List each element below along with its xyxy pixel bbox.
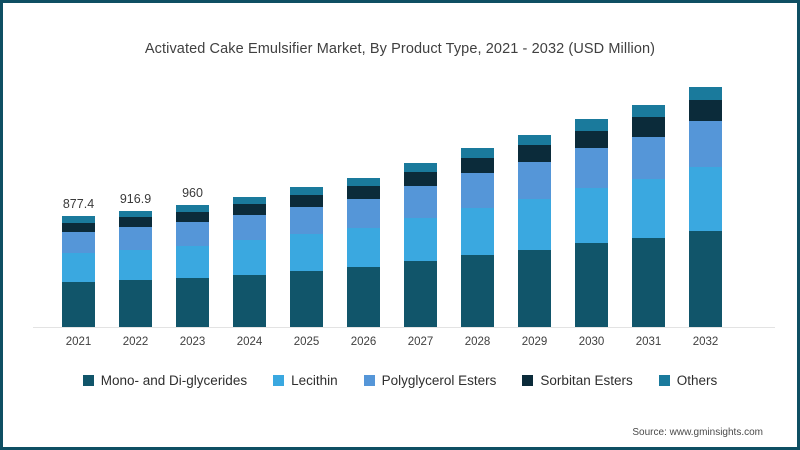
bar-stack	[632, 105, 665, 327]
legend-item-5[interactable]: Others	[659, 373, 718, 388]
chart-legend: Mono- and Di-glyceridesLecithinPolyglyce…	[9, 373, 791, 388]
bar-value-label: 960	[182, 186, 203, 200]
source-attribution: Source: www.gminsights.com	[632, 427, 763, 438]
bar-segment-2[interactable]	[290, 234, 323, 271]
legend-item-1[interactable]: Mono- and Di-glycerides	[83, 373, 247, 388]
bar-segment-2[interactable]	[632, 179, 665, 238]
bar-segment-3[interactable]	[518, 162, 551, 199]
bar-segment-2[interactable]	[62, 253, 95, 282]
legend-item-2[interactable]: Lecithin	[273, 373, 338, 388]
bar-stack	[689, 87, 722, 327]
chart-title: Activated Cake Emulsifier Market, By Pro…	[9, 41, 791, 57]
x-tick-label: 2028	[449, 336, 506, 348]
bar-segment-4[interactable]	[62, 223, 95, 232]
bar-segment-2[interactable]	[233, 240, 266, 275]
bar-stack	[404, 163, 437, 327]
bar-segment-4[interactable]	[176, 212, 209, 222]
bar-segment-4[interactable]	[347, 186, 380, 199]
x-axis-tick-labels: 2021202220232024202520262027202820292030…	[33, 331, 773, 351]
bar-segment-4[interactable]	[233, 204, 266, 215]
x-tick-label: 2031	[620, 336, 677, 348]
bar-segment-2[interactable]	[347, 228, 380, 268]
bar-segment-1[interactable]	[461, 255, 494, 327]
bar-segment-5[interactable]	[461, 148, 494, 158]
bar-segment-5[interactable]	[404, 163, 437, 172]
x-tick-label: 2030	[563, 336, 620, 348]
bar-segment-5[interactable]	[518, 135, 551, 146]
bar-segment-5[interactable]	[62, 216, 95, 223]
bar-stack	[290, 187, 323, 327]
legend-swatch-icon	[364, 375, 375, 386]
bar-segment-1[interactable]	[632, 238, 665, 327]
bar-segment-4[interactable]	[632, 117, 665, 136]
bar-segment-3[interactable]	[119, 227, 152, 250]
legend-label: Mono- and Di-glycerides	[101, 373, 247, 388]
bar-segment-5[interactable]	[233, 197, 266, 204]
bar-segment-2[interactable]	[518, 199, 551, 250]
bar-stack	[62, 216, 95, 327]
bar-segment-1[interactable]	[575, 243, 608, 327]
bar-stack	[233, 197, 266, 327]
legend-swatch-icon	[659, 375, 670, 386]
x-tick-label: 2023	[164, 336, 221, 348]
bar-segment-4[interactable]	[119, 217, 152, 227]
legend-label: Others	[677, 373, 718, 388]
legend-item-3[interactable]: Polyglycerol Esters	[364, 373, 497, 388]
bar-stack	[347, 178, 380, 327]
bar-segment-3[interactable]	[689, 121, 722, 167]
bar-segment-3[interactable]	[290, 207, 323, 234]
x-tick-label: 2022	[107, 336, 164, 348]
bar-segment-3[interactable]	[233, 215, 266, 240]
bar-segment-4[interactable]	[461, 158, 494, 173]
bar-segment-4[interactable]	[689, 100, 722, 121]
bar-segment-1[interactable]	[404, 261, 437, 327]
bar-stack	[518, 135, 551, 327]
bar-segment-2[interactable]	[689, 167, 722, 230]
x-tick-label: 2025	[278, 336, 335, 348]
bar-segment-1[interactable]	[62, 282, 95, 327]
bar-segment-1[interactable]	[518, 250, 551, 327]
bar-segment-3[interactable]	[347, 199, 380, 228]
bar-segment-5[interactable]	[689, 87, 722, 100]
bar-segment-3[interactable]	[461, 173, 494, 208]
bar-stack	[461, 148, 494, 327]
bar-segment-3[interactable]	[176, 222, 209, 246]
legend-label: Sorbitan Esters	[540, 373, 632, 388]
bar-segment-2[interactable]	[119, 250, 152, 280]
bar-value-label: 916.9	[120, 192, 151, 206]
bar-segment-5[interactable]	[347, 178, 380, 186]
bar-stack	[575, 119, 608, 327]
x-tick-label: 2024	[221, 336, 278, 348]
legend-label: Lecithin	[291, 373, 338, 388]
x-tick-label: 2029	[506, 336, 563, 348]
bar-segment-4[interactable]	[404, 172, 437, 186]
bar-segment-1[interactable]	[290, 271, 323, 327]
x-axis-line	[33, 327, 775, 328]
bar-segment-1[interactable]	[689, 231, 722, 327]
bar-segment-5[interactable]	[119, 211, 152, 218]
bar-stack	[176, 205, 209, 327]
bar-segment-2[interactable]	[404, 218, 437, 261]
bar-segment-4[interactable]	[290, 195, 323, 207]
bar-segment-3[interactable]	[62, 232, 95, 254]
bar-value-label: 877.4	[63, 197, 94, 211]
bar-segment-1[interactable]	[119, 280, 152, 327]
bar-stack	[119, 211, 152, 327]
x-tick-label: 2032	[677, 336, 734, 348]
legend-swatch-icon	[273, 375, 284, 386]
bar-segment-2[interactable]	[461, 208, 494, 255]
bar-segment-4[interactable]	[518, 145, 551, 161]
plot-area: 877.4916.9960	[33, 65, 773, 327]
bar-segment-3[interactable]	[632, 137, 665, 180]
x-tick-label: 2027	[392, 336, 449, 348]
bar-segment-2[interactable]	[575, 188, 608, 243]
bar-segment-5[interactable]	[290, 187, 323, 195]
bar-segment-1[interactable]	[176, 278, 209, 327]
bar-segment-4[interactable]	[575, 131, 608, 149]
bar-segment-1[interactable]	[233, 275, 266, 327]
bar-segment-5[interactable]	[575, 119, 608, 130]
legend-swatch-icon	[522, 375, 533, 386]
bar-segment-3[interactable]	[575, 148, 608, 188]
legend-item-4[interactable]: Sorbitan Esters	[522, 373, 632, 388]
bar-segment-3[interactable]	[404, 186, 437, 218]
bar-segment-1[interactable]	[347, 267, 380, 327]
bar-segment-5[interactable]	[632, 105, 665, 117]
legend-label: Polyglycerol Esters	[382, 373, 497, 388]
chart-frame: Activated Cake Emulsifier Market, By Pro…	[0, 0, 800, 450]
x-tick-label: 2026	[335, 336, 392, 348]
x-tick-label: 2021	[50, 336, 107, 348]
bar-segment-2[interactable]	[176, 246, 209, 278]
chart-canvas: Activated Cake Emulsifier Market, By Pro…	[9, 9, 791, 441]
legend-swatch-icon	[83, 375, 94, 386]
